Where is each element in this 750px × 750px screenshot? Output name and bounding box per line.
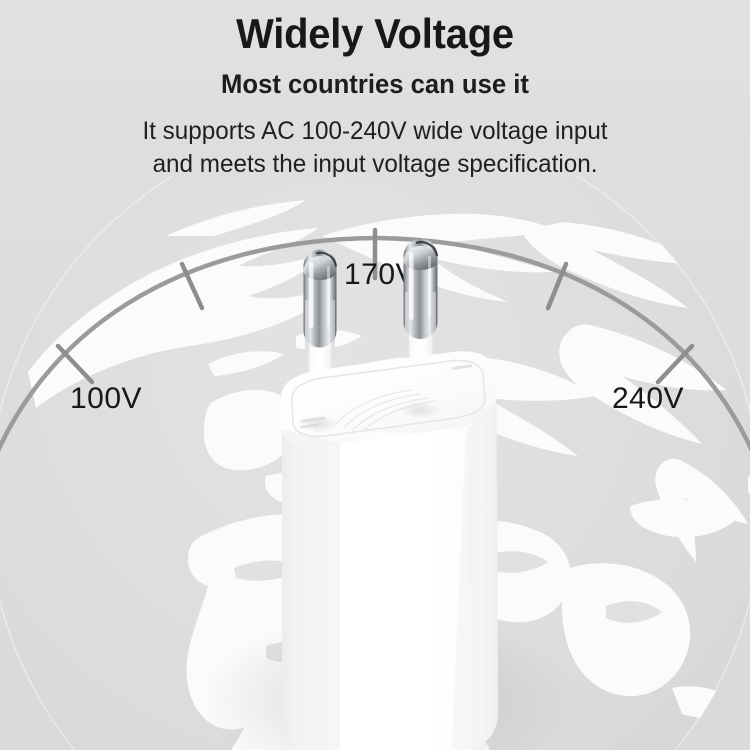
product-feature-image: 100V 170V 240V	[0, 0, 750, 750]
voltage-gauge-arc	[0, 180, 750, 540]
description-line-1: It supports AC 100-240V wide voltage inp…	[11, 115, 739, 148]
page-subtitle: Most countries can use it	[19, 71, 732, 98]
gauge-label-170v: 170V	[344, 258, 416, 292]
gauge-label-240v: 240V	[612, 382, 684, 416]
description-line-2: and meets the input voltage specificatio…	[11, 148, 739, 181]
page-title: Widely Voltage	[19, 13, 732, 55]
gauge-tick-100v	[58, 346, 92, 382]
gauge-label-100v: 100V	[70, 382, 142, 416]
page-description: It supports AC 100-240V wide voltage inp…	[11, 115, 739, 180]
gauge-tick-240v	[658, 346, 692, 382]
gauge-ticks	[58, 230, 692, 382]
header-block: Widely Voltage Most countries can use it…	[0, 0, 750, 180]
